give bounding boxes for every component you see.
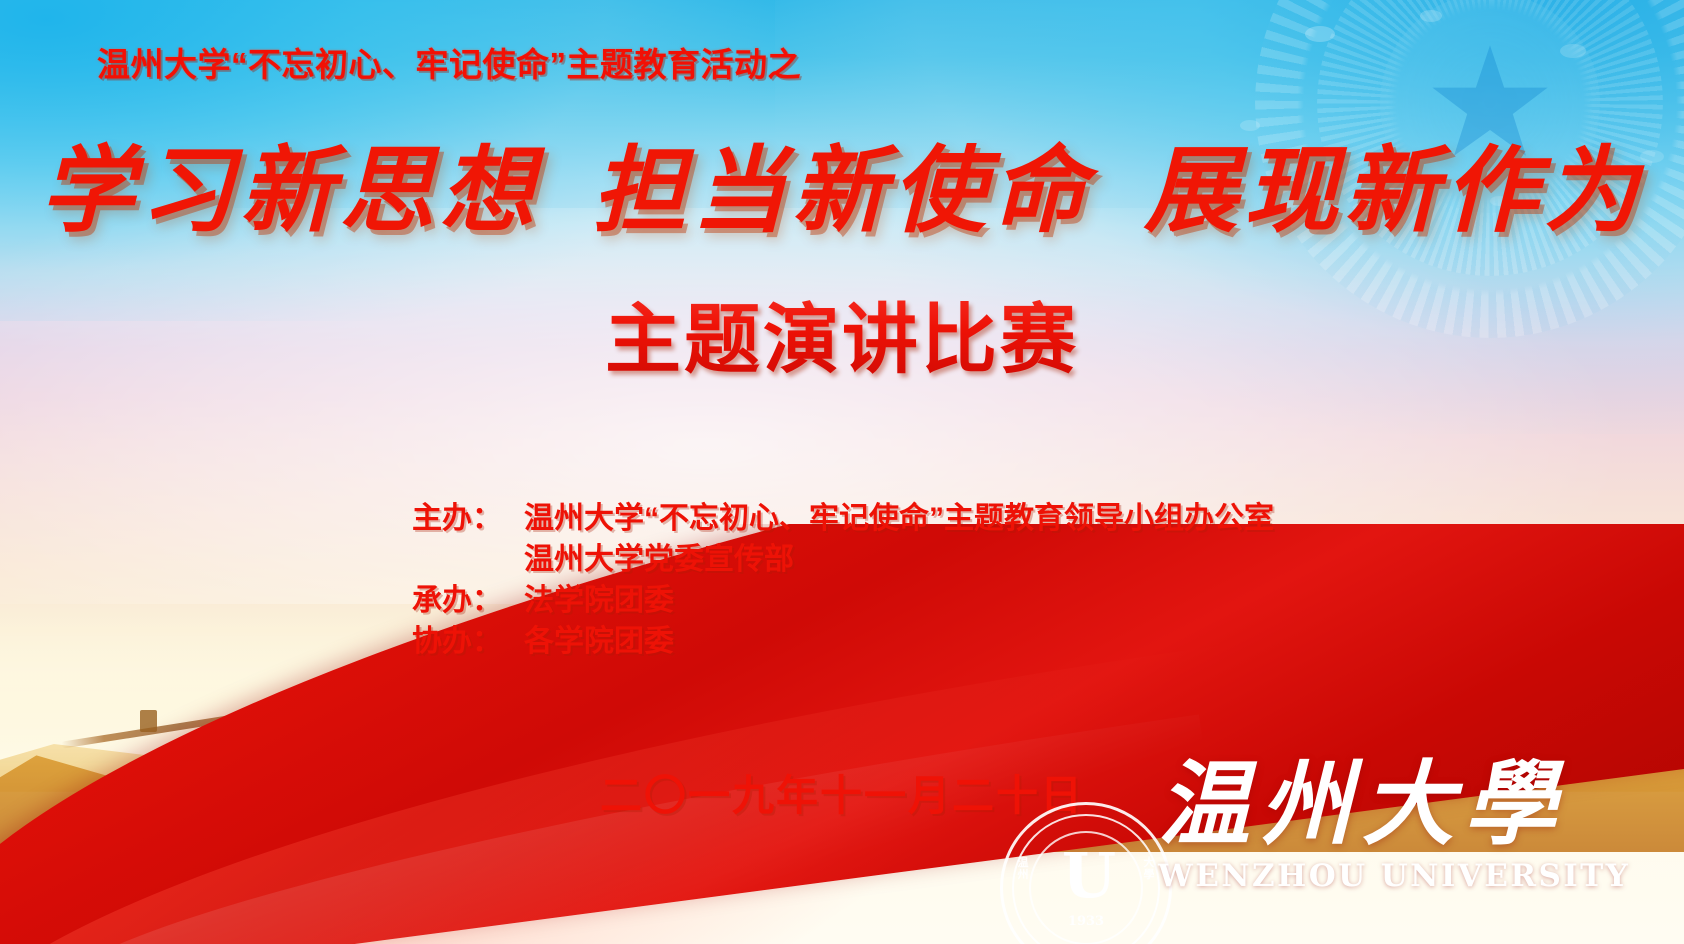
- organizer-value: 各学院团委: [524, 621, 1274, 662]
- organizer-label: 主办：: [412, 498, 524, 539]
- seal-monogram: U: [1062, 845, 1110, 907]
- seal-ring-text-cn-right: 大學: [1143, 857, 1155, 881]
- organizer-row: 协办： 各学院团委: [412, 621, 1274, 662]
- organizer-label: 协办：: [412, 621, 524, 662]
- organizer-value: 温州大学党委宣传部: [524, 539, 1274, 580]
- wordmark-english: WENZHOU UNIVERSITY: [1158, 858, 1684, 894]
- organizer-value: 温州大学“不忘初心、牢记使命”主题教育领导小组办公室: [524, 498, 1274, 539]
- organizers-block: 主办： 温州大学“不忘初心、牢记使命”主题教育领导小组办公室 温州大学党委宣传部…: [412, 498, 1274, 662]
- wordmark-chinese: 温州大學: [1158, 752, 1684, 856]
- seal-ring-text-cn-left: 温州: [1017, 857, 1029, 881]
- headline-segment-2: 担当新使命: [592, 136, 1092, 246]
- poster-subtitle: 主题演讲比赛: [0, 278, 1684, 388]
- poster-headline: 学习新思想担当新使命展现新作为: [0, 115, 1684, 251]
- headline-segment-1: 学习新思想: [40, 136, 540, 246]
- poster-content: 温州大学“不忘初心、牢记使命”主题教育活动之 学习新思想担当新使命展现新作为 主…: [0, 0, 1684, 944]
- seal-founding-year: 1933: [1003, 914, 1169, 929]
- headline-segment-3: 展现新作为: [1144, 136, 1644, 246]
- organizer-row: 承办： 法学院团委: [412, 580, 1274, 621]
- organizer-row: 温州大学党委宣传部: [412, 539, 1274, 580]
- university-seal-logo: U 温州 大學 1933 WENZHOU UNIVERSITY: [1000, 802, 1172, 944]
- university-wordmark: 温州大學 WENZHOU UNIVERSITY: [1158, 752, 1684, 894]
- poster-kicker-line: 温州大学“不忘初心、牢记使命”主题教育活动之: [97, 38, 801, 86]
- organizer-label: 承办：: [412, 580, 524, 621]
- poster-canvas: 温州大学“不忘初心、牢记使命”主题教育活动之 学习新思想担当新使命展现新作为 主…: [0, 0, 1684, 944]
- organizer-value: 法学院团委: [524, 580, 1274, 621]
- organizer-row: 主办： 温州大学“不忘初心、牢记使命”主题教育领导小组办公室: [412, 498, 1274, 539]
